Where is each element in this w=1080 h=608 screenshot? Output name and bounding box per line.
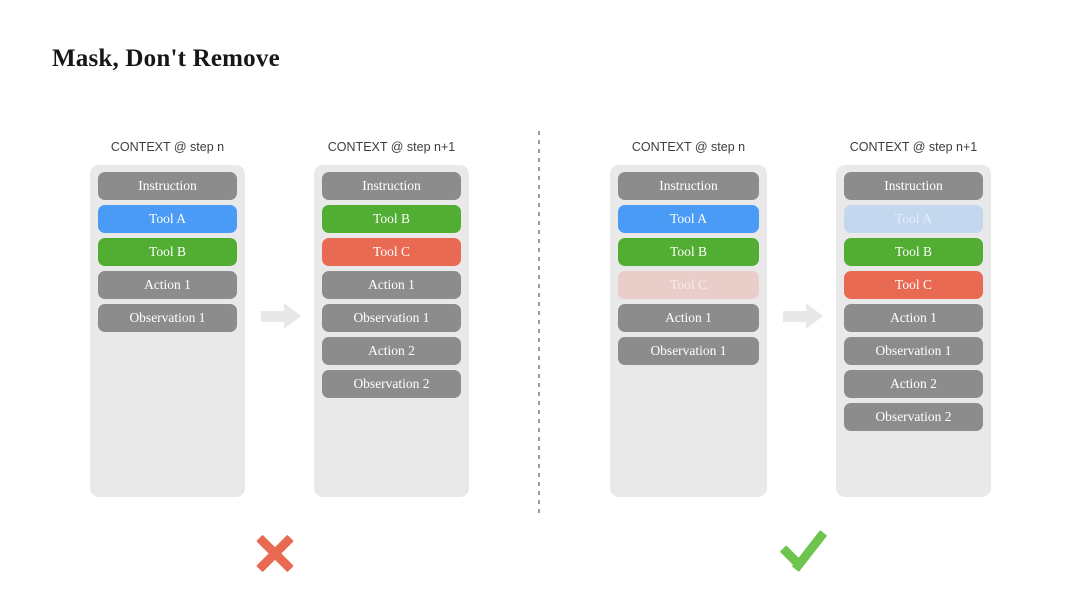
cross-icon [245,523,305,583]
context-box: Instruction Tool A Tool B Action 1 Obser… [90,165,245,497]
context-item-tool-b[interactable]: Tool B [98,238,237,266]
context-item-action-2[interactable]: Action 2 [844,370,983,398]
context-box: Instruction Tool A Tool B Tool C Action … [836,165,991,497]
context-item-tool-b[interactable]: Tool B [322,205,461,233]
context-item-observation-1[interactable]: Observation 1 [322,304,461,332]
context-item-tool-c[interactable]: Tool C [844,271,983,299]
context-item-tool-b[interactable]: Tool B [844,238,983,266]
arrow-shaft [783,311,808,322]
context-item-observation-1[interactable]: Observation 1 [98,304,237,332]
check-stroke-long [792,530,827,572]
context-item-tool-c[interactable]: Tool C [322,238,461,266]
context-box: Instruction Tool A Tool B Tool C Action … [610,165,767,497]
arrow-shaft [261,311,286,322]
transition-arrow-icon [261,303,301,329]
context-item-instruction[interactable]: Instruction [98,172,237,200]
column-header: CONTEXT @ step n+1 [836,139,991,155]
arrow-head [806,303,823,329]
context-item-observation-2[interactable]: Observation 2 [844,403,983,431]
context-box: Instruction Tool B Tool C Action 1 Obser… [314,165,469,497]
column-good-step-n: CONTEXT @ step n Instruction Tool A Tool… [610,139,767,497]
column-header: CONTEXT @ step n [90,139,245,155]
column-bad-step-n-plus-1: CONTEXT @ step n+1 Instruction Tool B To… [314,139,469,497]
context-item-action-1[interactable]: Action 1 [98,271,237,299]
context-item-instruction[interactable]: Instruction [618,172,759,200]
panel-divider [538,131,540,516]
context-item-action-1[interactable]: Action 1 [322,271,461,299]
context-item-action-1[interactable]: Action 1 [844,304,983,332]
page-title: Mask, Don't Remove [52,44,280,74]
column-good-step-n-plus-1: CONTEXT @ step n+1 Instruction Tool A To… [836,139,991,497]
check-icon [774,521,834,581]
context-item-observation-2[interactable]: Observation 2 [322,370,461,398]
context-item-instruction[interactable]: Instruction [322,172,461,200]
context-item-tool-a[interactable]: Tool A [98,205,237,233]
context-item-action-2[interactable]: Action 2 [322,337,461,365]
context-item-action-1[interactable]: Action 1 [618,304,759,332]
context-item-tool-a[interactable]: Tool A [618,205,759,233]
column-header: CONTEXT @ step n [610,139,767,155]
context-item-tool-c-masked[interactable]: Tool C [618,271,759,299]
column-bad-step-n: CONTEXT @ step n Instruction Tool A Tool… [90,139,245,497]
column-header: CONTEXT @ step n+1 [314,139,469,155]
context-item-tool-b[interactable]: Tool B [618,238,759,266]
transition-arrow-icon [783,303,823,329]
context-item-observation-1[interactable]: Observation 1 [844,337,983,365]
slide-canvas: Mask, Don't Remove CONTEXT @ step n Inst… [0,0,1080,608]
context-item-observation-1[interactable]: Observation 1 [618,337,759,365]
context-item-tool-a-masked[interactable]: Tool A [844,205,983,233]
context-item-instruction[interactable]: Instruction [844,172,983,200]
arrow-head [284,303,301,329]
